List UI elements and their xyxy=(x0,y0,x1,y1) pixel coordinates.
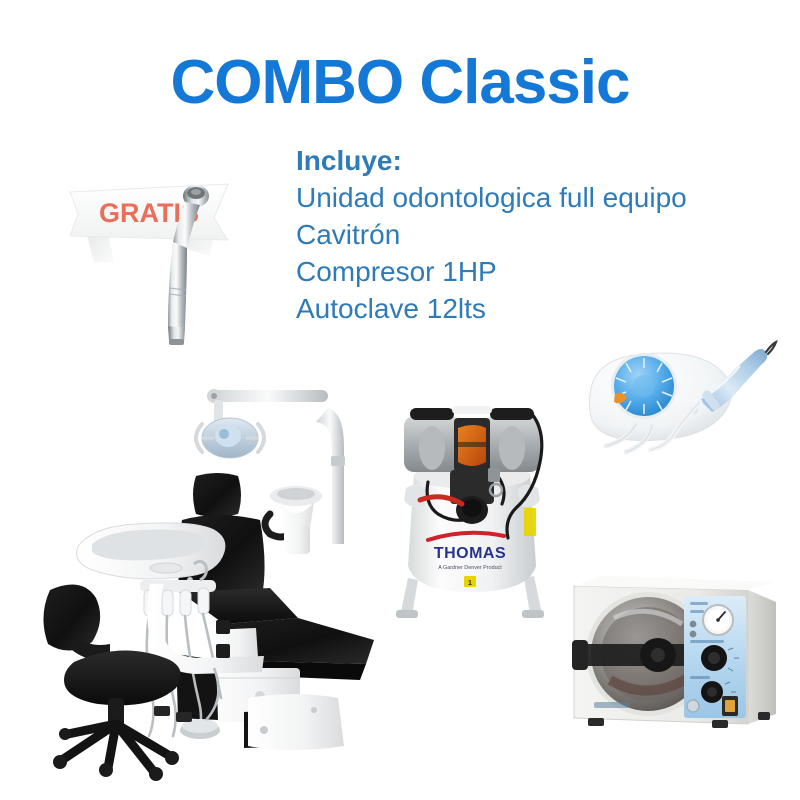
ultrasonic-scaler-image xyxy=(582,338,790,468)
dental-unit-chair-image xyxy=(48,368,398,778)
page-title: COMBO Classic xyxy=(0,52,800,114)
includes-heading: Incluye: xyxy=(296,143,776,180)
includes-item-3: Autoclave 12lts xyxy=(296,291,776,328)
autoclave-image xyxy=(562,562,790,747)
gratis-promo-group: GRATIS xyxy=(64,168,234,283)
svg-text:1: 1 xyxy=(468,580,472,587)
spittoon xyxy=(265,486,322,554)
svg-text:A Gardner Denver Product: A Gardner Denver Product xyxy=(438,565,502,571)
includes-item-1: Cavitrón xyxy=(296,217,776,254)
svg-text:THOMAS: THOMAS xyxy=(434,545,506,562)
includes-block: Incluye: Unidad odontologica full equipo… xyxy=(296,143,776,328)
includes-item-0: Unidad odontologica full equipo xyxy=(296,180,776,217)
dental-handpiece-icon xyxy=(152,176,232,351)
promo-poster: COMBO Classic Incluye: Unidad odontologi… xyxy=(0,0,800,800)
includes-item-2: Compresor 1HP xyxy=(296,254,776,291)
air-compressor-image: THOMAS A Gardner Denver Product 1 xyxy=(392,392,552,637)
